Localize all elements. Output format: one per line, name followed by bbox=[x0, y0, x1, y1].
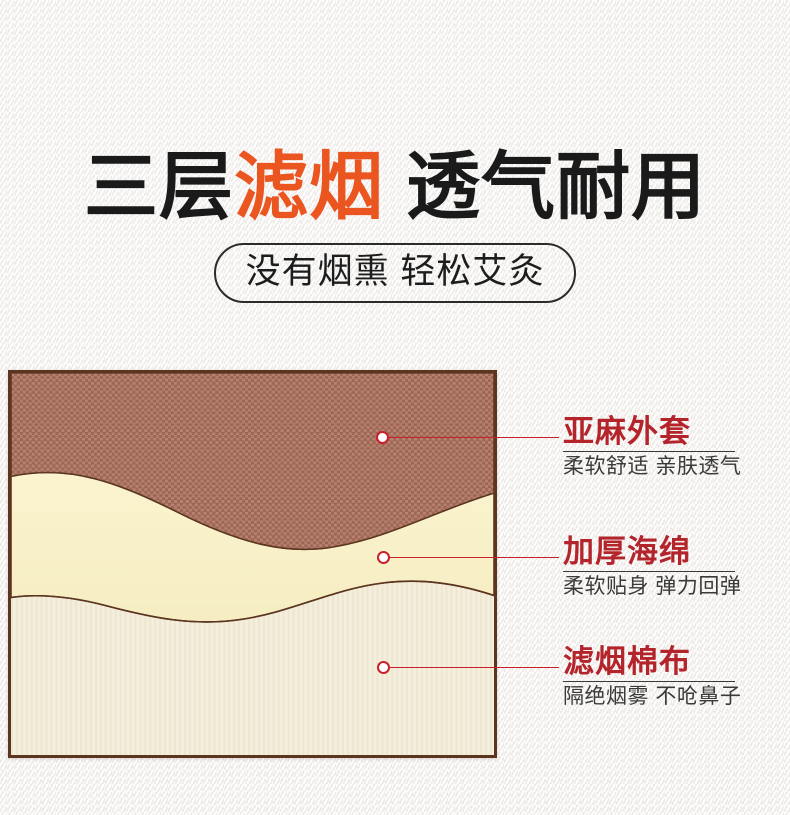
callout-title-cotton: 滤烟棉布 bbox=[563, 645, 788, 680]
subtitle-pill: 没有烟熏 轻松艾灸 bbox=[214, 243, 577, 303]
callout-line-cotton bbox=[390, 667, 559, 668]
callout-subtitle-sponge: 柔软贴身 弹力回弹 bbox=[563, 574, 788, 599]
callout-title-sponge: 加厚海绵 bbox=[563, 535, 788, 570]
callout-rule-linen bbox=[563, 451, 735, 452]
callout-dot-linen bbox=[376, 431, 389, 444]
callout-line-linen bbox=[389, 437, 559, 438]
callout-subtitle-linen: 柔软舒适 亲肤透气 bbox=[563, 454, 788, 479]
callout-label-sponge: 加厚海绵 柔软贴身 弹力回弹 bbox=[563, 535, 788, 599]
callout-rule-sponge bbox=[563, 571, 735, 572]
page-title: 三层滤烟透气耐用 bbox=[0, 150, 790, 224]
callout-dot-sponge bbox=[377, 551, 390, 564]
title-part-one: 三层 bbox=[84, 145, 234, 228]
callout-label-linen: 亚麻外套 柔软舒适 亲肤透气 bbox=[563, 415, 788, 479]
subtitle-pill-container: 没有烟熏 轻松艾灸 bbox=[0, 243, 790, 303]
cross-section-svg bbox=[11, 373, 494, 755]
callout-rule-cotton bbox=[563, 681, 735, 682]
callout-line-sponge bbox=[390, 557, 559, 558]
callout-dot-cotton bbox=[377, 661, 390, 674]
title-accent-text: 滤烟 bbox=[234, 145, 384, 228]
callout-label-cotton: 滤烟棉布 隔绝烟雾 不呛鼻子 bbox=[563, 645, 788, 709]
three-layer-cross-section-panel bbox=[8, 370, 497, 758]
title-part-two: 透气耐用 bbox=[406, 145, 706, 228]
callout-title-linen: 亚麻外套 bbox=[563, 415, 788, 450]
callout-subtitle-cotton: 隔绝烟雾 不呛鼻子 bbox=[563, 684, 788, 709]
